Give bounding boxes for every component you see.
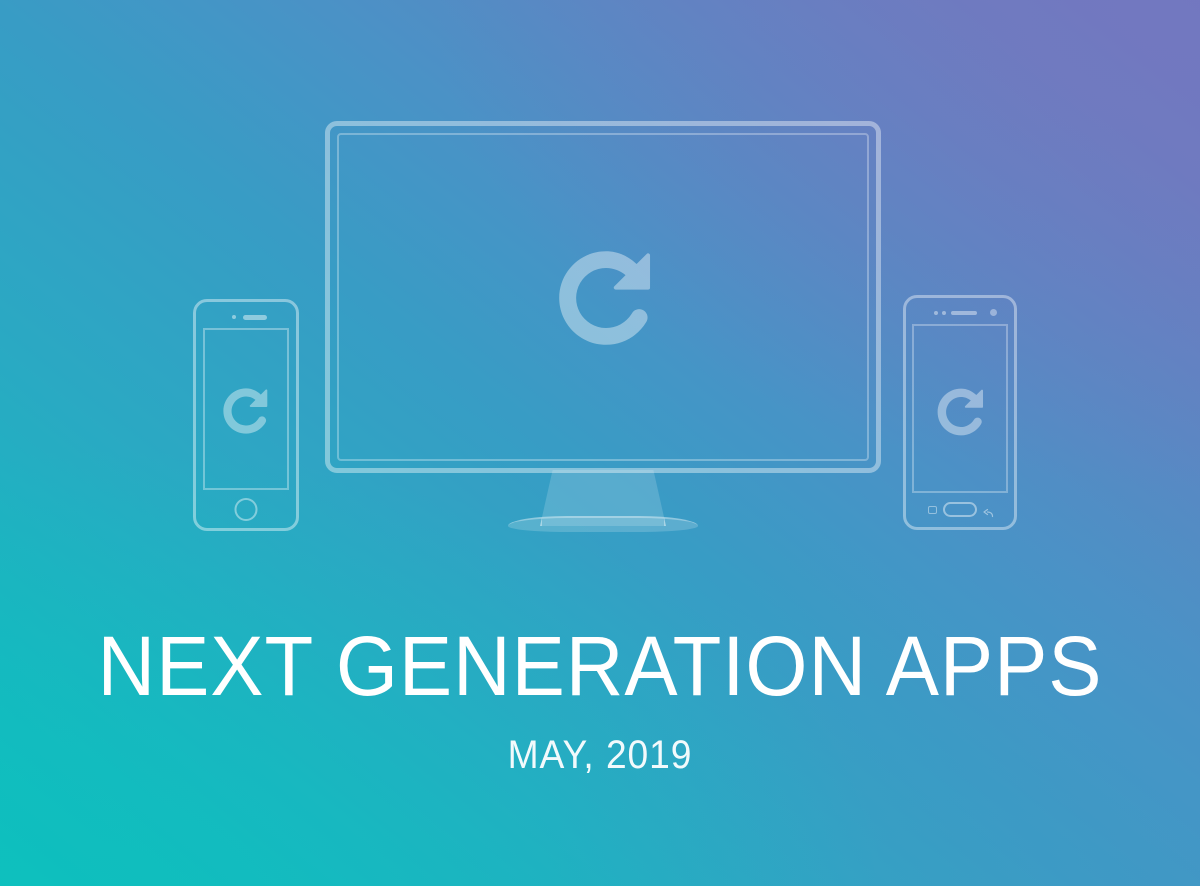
monitor-stand [508, 470, 698, 532]
refresh-icon [217, 382, 275, 440]
home-button [235, 498, 258, 521]
recents-button-icon [928, 506, 937, 514]
earpiece-speaker-icon [951, 311, 977, 315]
page-title: NEXT GENERATION APPS [30, 624, 1170, 708]
poster-canvas: NEXT GENERATION APPS MAY, 2019 [0, 0, 1200, 886]
front-camera-icon [990, 309, 997, 316]
page-subtitle: MAY, 2019 [42, 735, 1158, 775]
earpiece-speaker-icon [243, 315, 267, 320]
front-camera-icon [232, 315, 236, 319]
home-button [943, 502, 977, 517]
monitor-stand-base [508, 516, 698, 532]
refresh-icon [546, 238, 666, 358]
proximity-sensor-icon [934, 311, 938, 315]
back-button-icon [982, 505, 994, 515]
light-sensor-icon [942, 311, 946, 315]
refresh-icon [931, 382, 991, 442]
